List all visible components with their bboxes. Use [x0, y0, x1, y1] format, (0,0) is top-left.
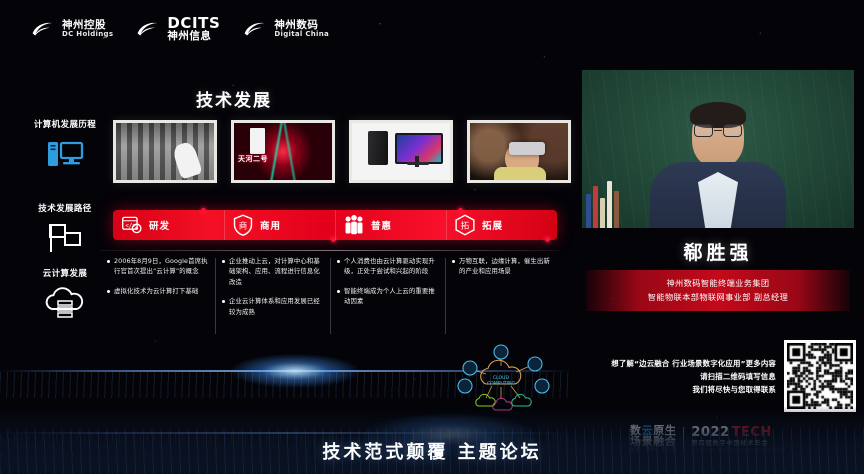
- qr-code[interactable]: [784, 340, 856, 412]
- bullet-text: 2006年8月9日，Google首席执行官首次提出“云计算”的概念: [114, 256, 208, 277]
- stage-label: 研发: [149, 218, 170, 232]
- speaker-title-banner: 神州数码智能终端业务集团 智能物联本部物联网事业部 副总经理: [586, 270, 850, 311]
- speaker-name: 郗胜强: [572, 238, 864, 265]
- shield-shang-icon: 商: [232, 214, 254, 236]
- logo-label-cn: 神州信息: [167, 31, 220, 42]
- table-column: 个人消费也由云计算驱动实现升级，正处于尝试和兴起的阶段 智能终端成为个人上云的重…: [330, 256, 445, 326]
- diagram-center-label: CLOUD: [493, 375, 510, 381]
- bullet-item: 智能终端成为个人上云的重要推动因素: [337, 286, 438, 307]
- bullet-text: 智能终端成为个人上云的重要推动因素: [344, 286, 438, 307]
- bullet-dot: [337, 260, 340, 263]
- bottom-banner: 技术范式颠覆 主题论坛: [0, 406, 864, 474]
- bullet-text: 企业推动上云，对计算中心和基础架构、应用、流程进行信息化改造: [229, 256, 323, 287]
- logo-label-en: Digital China: [274, 31, 329, 38]
- technology-stage-bar: </> 研发 商 商用 普惠: [113, 210, 557, 240]
- swoosh-icon: [242, 19, 268, 39]
- table-top-rule: [100, 250, 560, 251]
- slide-side-label-cloud: 云计算发展: [22, 267, 108, 321]
- qr-line-2: 请扫描二维码填写信息: [580, 370, 776, 383]
- brand-logo-bar: 神州控股 DC Holdings DCITS 神州信息 神州数码 Digital…: [0, 0, 864, 58]
- speaker-shirt: [698, 172, 738, 228]
- flag-path-icon: [22, 222, 108, 254]
- photo-desktop-pc: [349, 120, 453, 183]
- svg-text:商: 商: [239, 220, 247, 230]
- cloud-computing-diagram: CLOUD COMPUTING: [452, 340, 562, 412]
- stage-label: 商用: [260, 218, 281, 232]
- speaker-org-line1: 神州数码智能终端业务集团: [590, 276, 846, 290]
- banner-grid-texture: [0, 428, 864, 474]
- bullet-dot: [107, 290, 110, 293]
- side-label-text: 云计算发展: [22, 267, 108, 279]
- stage-item-puhui[interactable]: 普惠: [335, 210, 446, 240]
- logo-digital-china: 神州数码 Digital China: [242, 19, 329, 39]
- bullet-item: 万物互联，边缘计算，催生出新的产业和应用场景: [452, 256, 553, 277]
- bullet-text: 个人消费也由云计算驱动实现升级，正处于尝试和兴起的阶段: [344, 256, 438, 277]
- slide-content: 技术发展 计算机发展历程 技术发展路径: [0, 62, 572, 362]
- svg-text:拓: 拓: [461, 220, 470, 230]
- bullet-dot: [107, 260, 110, 263]
- presentation-stage: 神州控股 DC Holdings DCITS 神州信息 神州数码 Digital…: [0, 0, 864, 474]
- bullet-text: 虚拟化技术为云计算打下基础: [114, 286, 198, 296]
- glasses-icon: [694, 124, 742, 137]
- bookshelf-decoration: [586, 181, 619, 228]
- slide-side-label-tech-path: 技术发展路径: [22, 202, 108, 254]
- qr-callout: 想了解“边云融合 行业场景数字化应用”更多内容 请扫描二维码填写信息 我们将尽快…: [580, 340, 856, 412]
- photo-eniac: [113, 120, 217, 183]
- table-column: 万物互联，边缘计算，催生出新的产业和应用场景: [445, 256, 560, 326]
- cloud-server-icon: [22, 287, 108, 321]
- bullet-dot: [222, 260, 225, 263]
- code-gear-icon: </>: [121, 214, 143, 236]
- bullet-item: 虚拟化技术为云计算打下基础: [107, 286, 208, 296]
- bullet-item: 个人消费也由云计算驱动实现升级，正处于尝试和兴起的阶段: [337, 256, 438, 277]
- qr-line-3: 我们将尽快与您取得联系: [580, 383, 776, 396]
- svg-text:COMPUTING: COMPUTING: [487, 381, 516, 387]
- side-label-text: 计算机发展历程: [22, 118, 108, 130]
- table-column: 企业推动上云，对计算中心和基础架构、应用、流程进行信息化改造 企业云计算体系和应…: [215, 256, 330, 326]
- slide-title: 技术发展: [196, 86, 272, 111]
- stage-item-tuozhan[interactable]: 拓 拓展: [446, 210, 557, 240]
- bullet-text: 万物互联，边缘计算，催生出新的产业和应用场景: [459, 256, 553, 277]
- bullet-dot: [222, 300, 225, 303]
- swoosh-icon: [30, 19, 56, 39]
- photo-tianhe-supercomputer: 天河二号: [231, 120, 335, 183]
- stage-item-shangyong[interactable]: 商 商用: [224, 210, 335, 240]
- table-column: 2006年8月9日，Google首席执行官首次提出“云计算”的概念 虚拟化技术为…: [100, 256, 215, 326]
- cloud-development-table: 2006年8月9日，Google首席执行官首次提出“云计算”的概念 虚拟化技术为…: [100, 250, 560, 346]
- hexagon-tuo-icon: 拓: [454, 214, 476, 236]
- stage-item-yanfa[interactable]: </> 研发: [113, 210, 224, 240]
- bullet-item: 企业云计算体系和应用发展已经较为成熟: [222, 296, 323, 317]
- qr-instruction-text: 想了解“边云融合 行业场景数字化应用”更多内容 请扫描二维码填写信息 我们将尽快…: [580, 340, 776, 397]
- photo-strip: 天河二号: [113, 120, 571, 183]
- bullet-text: 企业云计算体系和应用发展已经较为成熟: [229, 296, 323, 317]
- photo-vr-headset: [467, 120, 571, 183]
- logo-dcits: DCITS 神州信息: [135, 16, 220, 43]
- speaker-video-feed[interactable]: [582, 70, 854, 228]
- photo-caption: 天河二号: [238, 154, 268, 164]
- bullet-item: 企业推动上云，对计算中心和基础架构、应用、流程进行信息化改造: [222, 256, 323, 287]
- bullet-dot: [337, 290, 340, 293]
- desktop-computer-icon: [22, 138, 108, 170]
- swoosh-icon: [135, 19, 161, 39]
- stage-label: 普惠: [371, 218, 392, 232]
- qr-line-1: 想了解“边云融合 行业场景数字化应用”更多内容: [580, 357, 776, 370]
- logo-dc-holdings: 神州控股 DC Holdings: [30, 19, 113, 39]
- speaker-org-line2: 智能物联本部物联网事业部 副总经理: [590, 290, 846, 304]
- people-group-icon: [343, 214, 365, 236]
- bullet-item: 2006年8月9日，Google首席执行官首次提出“云计算”的概念: [107, 256, 208, 277]
- logo-label-en: DC Holdings: [62, 31, 113, 38]
- logo-label-en: DCITS: [167, 16, 220, 32]
- slide-side-label-computer-history: 计算机发展历程: [22, 118, 108, 170]
- stage-label: 拓展: [482, 218, 503, 232]
- side-label-text: 技术发展路径: [22, 202, 108, 214]
- bullet-dot: [452, 260, 455, 263]
